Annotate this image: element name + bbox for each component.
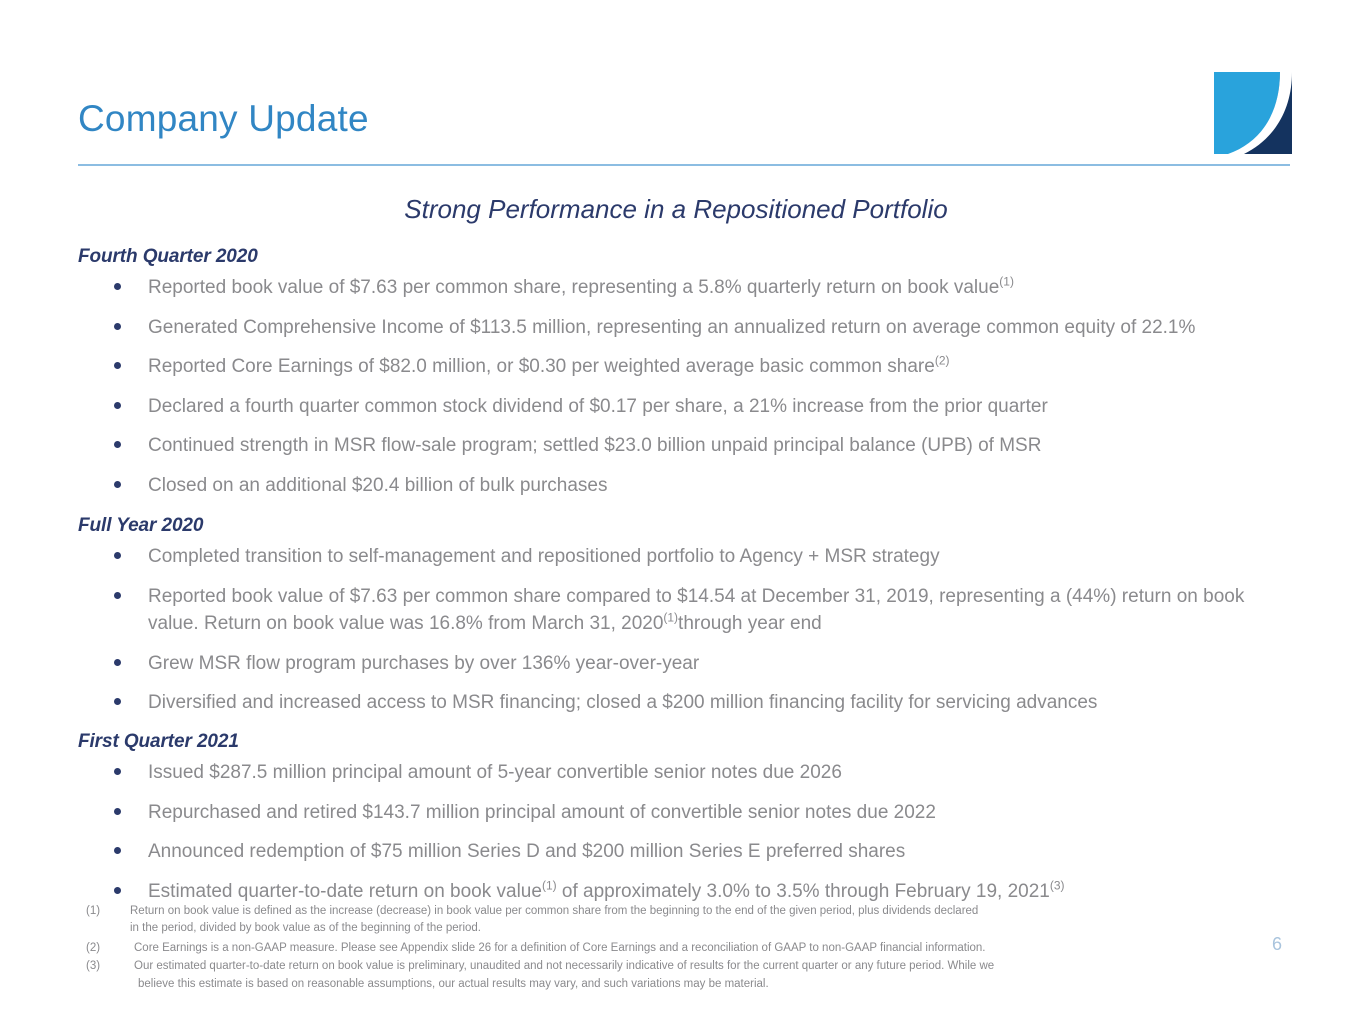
bullet-dot-icon [114, 592, 121, 599]
footnote-marker: (1) [86, 903, 126, 920]
list-item: Reported Core Earnings of $82.0 million,… [78, 353, 1293, 381]
bullet-list: Issued $287.5 million principal amount o… [78, 759, 1293, 905]
page-number: 6 [1272, 934, 1282, 955]
bullet-text-tail: through year end [678, 613, 822, 634]
company-logo [1214, 72, 1292, 154]
bullet-dot-icon [114, 847, 121, 854]
bullet-dot-icon [114, 362, 121, 369]
list-item: Generated Comprehensive Income of $113.5… [78, 314, 1293, 342]
bullet-dot-icon [114, 283, 121, 290]
bullet-dot-icon [114, 808, 121, 815]
footnote-text-line2: in the period, divided by book value as … [130, 920, 1246, 937]
bullet-text: Estimated quarter-to-date return on book… [148, 881, 542, 902]
footnote-1: (1) Return on book value is defined as t… [86, 903, 1246, 938]
list-item: Reported book value of $7.63 per common … [78, 274, 1293, 302]
bullet-text: Reported Core Earnings of $82.0 million,… [148, 356, 935, 377]
bullet-text: Diversified and increased access to MSR … [148, 692, 1097, 713]
bullet-dot-icon [114, 441, 121, 448]
footnote-ref: (1) [999, 275, 1014, 289]
bullet-text: Continued strength in MSR flow-sale prog… [148, 435, 1041, 456]
bullet-dot-icon [114, 402, 121, 409]
list-item: Closed on an additional $20.4 billion of… [78, 472, 1293, 500]
section-full-year-2020: Full Year 2020 Completed transition to s… [78, 515, 1293, 717]
slide-content: Fourth Quarter 2020 Reported book value … [78, 246, 1293, 917]
footnote-text: Our estimated quarter-to-date return on … [134, 960, 994, 972]
bullet-text: Issued $287.5 million principal amount o… [148, 762, 842, 783]
bullet-text-tail: of approximately 3.0% to 3.5% through Fe… [562, 881, 1050, 902]
bullet-dot-icon [114, 659, 121, 666]
bullet-dot-icon [114, 481, 121, 488]
footnote-text: Return on book value is defined as the i… [130, 905, 978, 917]
footnote-ref: (1) [663, 611, 678, 625]
list-item: Completed transition to self-management … [78, 543, 1293, 571]
bullet-dot-icon [114, 887, 121, 894]
bullet-list: Completed transition to self-management … [78, 543, 1293, 717]
bullet-dot-icon [114, 552, 121, 559]
list-item: Diversified and increased access to MSR … [78, 689, 1293, 717]
section-first-quarter-2021: First Quarter 2021 Issued $287.5 million… [78, 731, 1293, 905]
bullet-text: Repurchased and retired $143.7 million p… [148, 802, 936, 823]
list-item: Estimated quarter-to-date return on book… [78, 878, 1293, 906]
bullet-text: Declared a fourth quarter common stock d… [148, 396, 1048, 417]
slide-subtitle: Strong Performance in a Repositioned Por… [0, 194, 1352, 225]
title-divider [78, 164, 1290, 166]
footnote-ref: (3) [1050, 878, 1065, 892]
footnote-ref: (2) [935, 354, 950, 368]
footnote-marker: (3) [86, 958, 126, 975]
list-item: Issued $287.5 million principal amount o… [78, 759, 1293, 787]
list-item: Repurchased and retired $143.7 million p… [78, 799, 1293, 827]
list-item: Reported book value of $7.63 per common … [78, 583, 1293, 638]
footnote-ref: (1) [542, 878, 557, 892]
list-item: Announced redemption of $75 million Seri… [78, 838, 1293, 866]
footnote-marker: (2) [86, 940, 126, 957]
section-heading: Full Year 2020 [78, 515, 1293, 537]
bullet-dot-icon [114, 768, 121, 775]
section-heading: First Quarter 2021 [78, 731, 1293, 753]
footnote-text-line2: believe this estimate is based on reason… [134, 976, 1246, 993]
footnotes: (1) Return on book value is defined as t… [86, 903, 1246, 993]
bullet-text: Grew MSR flow program purchases by over … [148, 653, 699, 674]
bullet-list: Reported book value of $7.63 per common … [78, 274, 1293, 499]
list-item: Continued strength in MSR flow-sale prog… [78, 432, 1293, 460]
bullet-text: Closed on an additional $20.4 billion of… [148, 475, 607, 496]
bullet-text: Completed transition to self-management … [148, 546, 940, 567]
list-item: Declared a fourth quarter common stock d… [78, 393, 1293, 421]
bullet-text: Reported book value of $7.63 per common … [148, 277, 999, 298]
bullet-text: Generated Comprehensive Income of $113.5… [148, 317, 1195, 338]
section-heading: Fourth Quarter 2020 [78, 246, 1293, 268]
page-title: Company Update [78, 98, 369, 140]
footnote-2: (2) Core Earnings is a non-GAAP measure.… [86, 940, 1246, 957]
bullet-dot-icon [114, 698, 121, 705]
list-item: Grew MSR flow program purchases by over … [78, 650, 1293, 678]
footnote-text: Core Earnings is a non-GAAP measure. Ple… [134, 942, 986, 954]
bullet-dot-icon [114, 323, 121, 330]
section-fourth-quarter-2020: Fourth Quarter 2020 Reported book value … [78, 246, 1293, 499]
footnote-3: (3) Our estimated quarter-to-date return… [86, 958, 1246, 993]
bullet-text: Announced redemption of $75 million Seri… [148, 841, 905, 862]
